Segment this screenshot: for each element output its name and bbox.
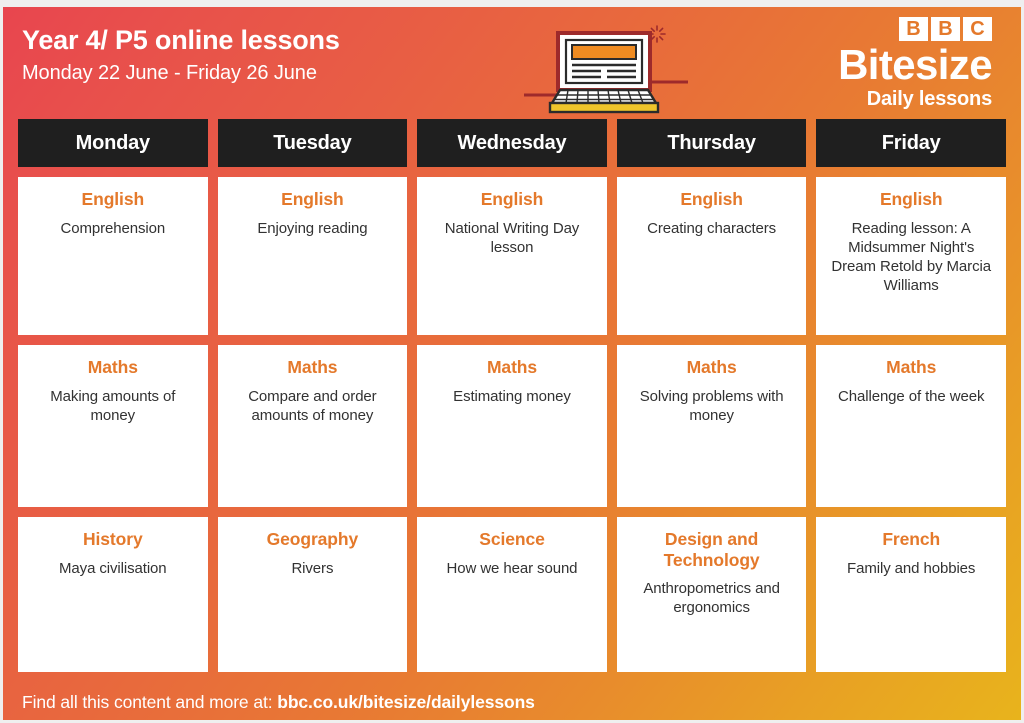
bbc-letter-3: C (963, 17, 992, 41)
brand-tagline: Daily lessons (752, 88, 992, 111)
lesson-cell[interactable]: Maths Challenge of the week (816, 345, 1006, 507)
lesson-description: Anthropometrics and ergonomics (625, 579, 799, 617)
lesson-subject: English (680, 189, 743, 210)
footer-note: Find all this content and more at: bbc.c… (22, 692, 535, 713)
lesson-subject: Geography (267, 529, 358, 550)
lesson-subject: English (82, 189, 145, 210)
lesson-cell[interactable]: English Creating characters (617, 177, 807, 335)
lesson-description: Comprehension (61, 219, 166, 238)
lesson-subject: English (880, 189, 943, 210)
lesson-subject: Design and Technology (625, 529, 799, 570)
page-title: Year 4/ P5 online lessons (22, 25, 340, 55)
lesson-description: Rivers (291, 559, 333, 578)
lesson-description: Making amounts of money (26, 387, 200, 425)
lesson-description: Estimating money (453, 387, 571, 406)
lesson-description: Enjoying reading (257, 219, 367, 238)
day-header-friday: Friday (816, 119, 1006, 167)
lesson-subject: Maths (487, 357, 537, 378)
lesson-subject: Maths (886, 357, 936, 378)
lesson-cell[interactable]: Maths Solving problems with money (617, 345, 807, 507)
lesson-cell[interactable]: English National Writing Day lesson (417, 177, 607, 335)
footer-url[interactable]: bbc.co.uk/bitesize/dailylessons (277, 692, 535, 712)
lesson-cell[interactable]: Maths Compare and order amounts of money (218, 345, 408, 507)
day-header-tuesday: Tuesday (218, 119, 408, 167)
lesson-description: Challenge of the week (838, 387, 984, 406)
lesson-description: Solving problems with money (625, 387, 799, 425)
lesson-description: Family and hobbies (847, 559, 975, 578)
lesson-cell[interactable]: English Enjoying reading (218, 177, 408, 335)
brand-name: Bitesize (752, 44, 992, 86)
lesson-description: How we hear sound (447, 559, 578, 578)
top-edge-strip (0, 0, 1024, 7)
lesson-cell[interactable]: History Maya civilisation (18, 517, 208, 672)
bitesize-timetable-poster: Year 4/ P5 online lessons Monday 22 June… (0, 0, 1024, 723)
lesson-subject: Maths (687, 357, 737, 378)
title-block: Year 4/ P5 online lessons Monday 22 June… (22, 25, 340, 85)
lesson-cell[interactable]: English Comprehension (18, 177, 208, 335)
bbc-blocks: B B C (752, 17, 992, 41)
lesson-description: National Writing Day lesson (425, 219, 599, 257)
sparkle-icon (648, 25, 666, 48)
lesson-subject: Maths (287, 357, 337, 378)
lesson-cell[interactable]: Maths Making amounts of money (18, 345, 208, 507)
lesson-cell[interactable]: Design and Technology Anthropometrics an… (617, 517, 807, 672)
timetable-grid: Monday Tuesday Wednesday Thursday Friday… (18, 119, 1006, 672)
lesson-subject: French (882, 529, 940, 550)
day-header-wednesday: Wednesday (417, 119, 607, 167)
lesson-subject: English (481, 189, 544, 210)
lesson-subject: Science (479, 529, 544, 550)
lesson-cell[interactable]: Maths Estimating money (417, 345, 607, 507)
lesson-subject: History (83, 529, 143, 550)
bbc-letter-1: B (899, 17, 928, 41)
lesson-subject: English (281, 189, 344, 210)
lesson-description: Creating characters (647, 219, 776, 238)
laptop-illustration (516, 15, 696, 115)
lesson-cell[interactable]: English Reading lesson: A Midsummer Nigh… (816, 177, 1006, 335)
lesson-cell[interactable]: French Family and hobbies (816, 517, 1006, 672)
date-range: Monday 22 June - Friday 26 June (22, 62, 340, 85)
poster-header: Year 4/ P5 online lessons Monday 22 June… (0, 7, 1024, 119)
lesson-description: Maya civilisation (59, 559, 167, 578)
lesson-cell[interactable]: Science How we hear sound (417, 517, 607, 672)
lesson-cell[interactable]: Geography Rivers (218, 517, 408, 672)
bbc-letter-2: B (931, 17, 960, 41)
lesson-subject: Maths (88, 357, 138, 378)
bbc-bitesize-logo: B B C Bitesize Daily lessons (752, 17, 992, 111)
lesson-description: Reading lesson: A Midsummer Night's Drea… (824, 219, 998, 296)
day-header-monday: Monday (18, 119, 208, 167)
lesson-description: Compare and order amounts of money (226, 387, 400, 425)
day-header-thursday: Thursday (617, 119, 807, 167)
footer-prefix: Find all this content and more at: (22, 692, 277, 712)
